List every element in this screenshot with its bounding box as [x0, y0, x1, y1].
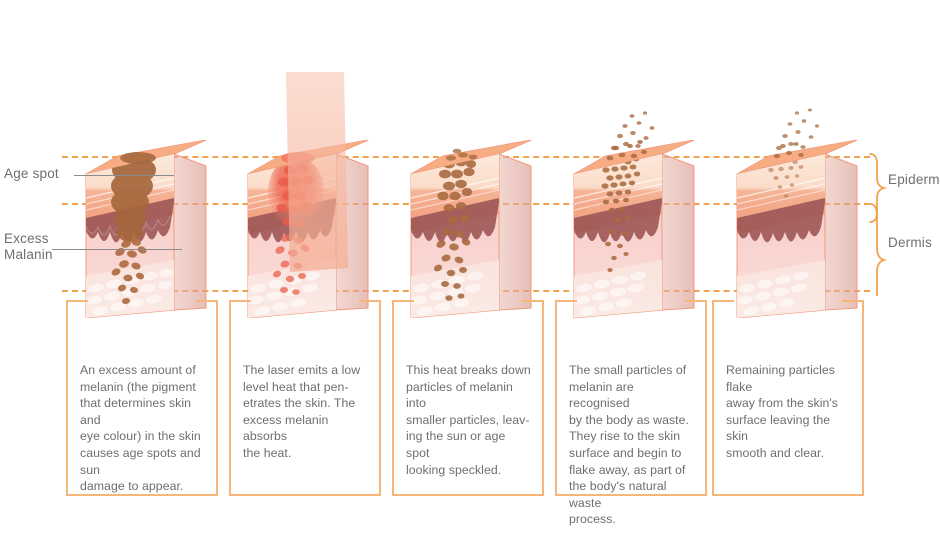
leader-excess-melanin — [52, 249, 182, 250]
flaking-particles-above-5 — [729, 100, 869, 160]
label-excess-melanin: Excess Malanin — [4, 231, 53, 263]
caption-box-5: Remaining particles flake away from the … — [712, 300, 864, 496]
skin-block-4 — [566, 140, 706, 318]
caption-box-2: The laser emits a low level heat that pe… — [229, 300, 381, 496]
caption-box-1: An excess amount of melanin (the pigment… — [66, 300, 218, 496]
caption-text-2: The laser emits a low level heat that pe… — [243, 362, 369, 462]
label-dermis: Dermis — [888, 235, 932, 250]
caption-text-3: This heat breaks down particles of melan… — [406, 362, 532, 478]
diagram-canvas: Age spot Excess Malanin Epidermis Dermis… — [0, 0, 940, 555]
label-epidermis: Epidermis — [888, 172, 940, 187]
label-age-spot: Age spot — [4, 166, 59, 182]
caption-text-5: Remaining particles flake away from the … — [726, 362, 852, 462]
leader-age-spot — [74, 175, 174, 176]
caption-text-4: The small particles of melanin are recog… — [569, 362, 695, 528]
skin-block-5 — [729, 140, 869, 318]
caption-box-4: The small particles of melanin are recog… — [555, 300, 707, 496]
laser-beam — [286, 72, 350, 277]
skin-block-3 — [403, 140, 543, 318]
caption-box-3: This heat breaks down particles of melan… — [392, 300, 544, 496]
skin-block-1 — [78, 140, 218, 318]
flaking-particles-above-4 — [566, 100, 706, 160]
caption-text-1: An excess amount of melanin (the pigment… — [80, 362, 206, 495]
